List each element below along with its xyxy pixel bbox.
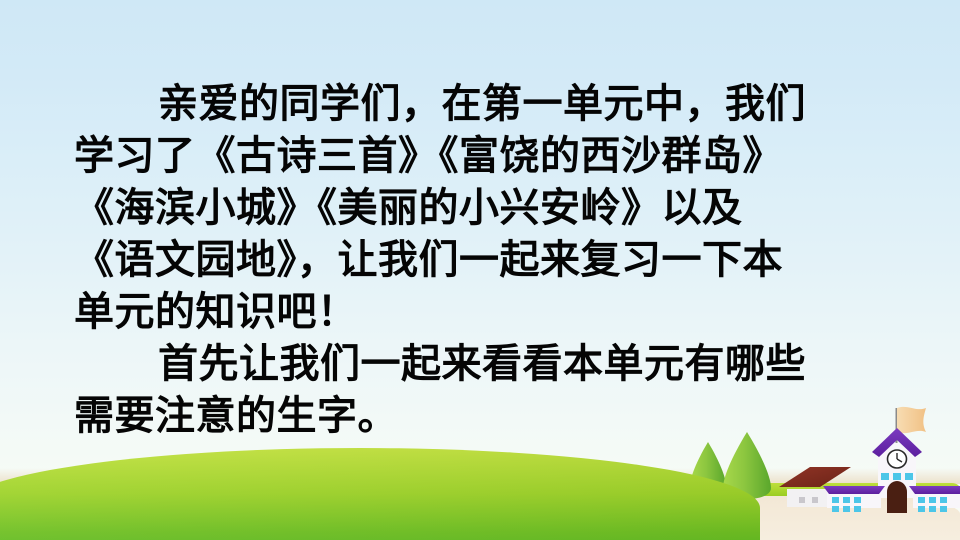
paragraph-2-line-2: 需要注意的生字。 [74, 390, 894, 442]
paragraph-2-line-1: 首先让我们一起来看看本单元有哪些 [74, 338, 894, 390]
flag-icon [897, 407, 926, 433]
paragraph-1-line-1-text: 亲爱的同学们，在第一单元中，我们 [158, 81, 806, 126]
clock-icon [888, 450, 907, 468]
slide-canvas: 亲爱的同学们，在第一单元中，我们 学习了《古诗三首》《富饶的西沙群岛》 《海滨小… [0, 0, 960, 540]
green-hill-shading [0, 448, 760, 540]
paragraph-1-line-3: 《海滨小城》《美丽的小兴安岭》以及 [74, 182, 894, 234]
paragraph-1-line-1: 亲爱的同学们，在第一单元中，我们 [74, 78, 894, 130]
paragraph-2-line-1-text: 首先让我们一起来看看本单元有哪些 [158, 341, 806, 386]
slide-text-block: 亲爱的同学们，在第一单元中，我们 学习了《古诗三首》《富饶的西沙群岛》 《海滨小… [74, 78, 894, 442]
paragraph-1-line-4: 《语文园地》，让我们一起来复习一下本 [74, 234, 894, 286]
paragraph-1-line-2: 学习了《古诗三首》《富饶的西沙群岛》 [74, 130, 894, 182]
paragraph-1-line-5: 单元的知识吧！ [74, 286, 894, 338]
